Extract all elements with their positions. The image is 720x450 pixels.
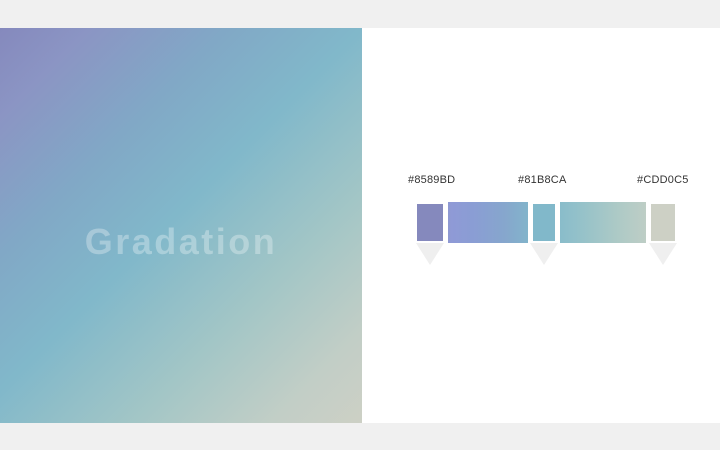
color-stop-pointer-1[interactable] [530,243,558,265]
color-stop-swatch-1[interactable] [531,202,557,243]
color-stop-pointer-2[interactable] [649,243,677,265]
swatch-label-0: #8589BD [408,174,455,186]
swatch-label-2: #CDD0C5 [637,174,689,186]
swatch-label-1: #81B8CA [518,174,567,186]
palette-inspector: #8589BD #81B8CA #CDD0C5 [362,28,720,423]
color-stop-swatch-0[interactable] [415,202,445,243]
page-title: Gradation [0,220,362,264]
color-stop-pointer-0[interactable] [416,243,444,265]
gradient-bar-gutter [445,202,448,243]
gradient-bar[interactable] [415,202,677,243]
gradient-bar-gutter [557,202,560,243]
gradient-preview-panel[interactable]: Gradation [0,28,362,423]
page-root: Gradation #8589BD #81B8CA #CDD0C5 [0,0,720,450]
color-stop-swatch-2[interactable] [649,202,677,243]
